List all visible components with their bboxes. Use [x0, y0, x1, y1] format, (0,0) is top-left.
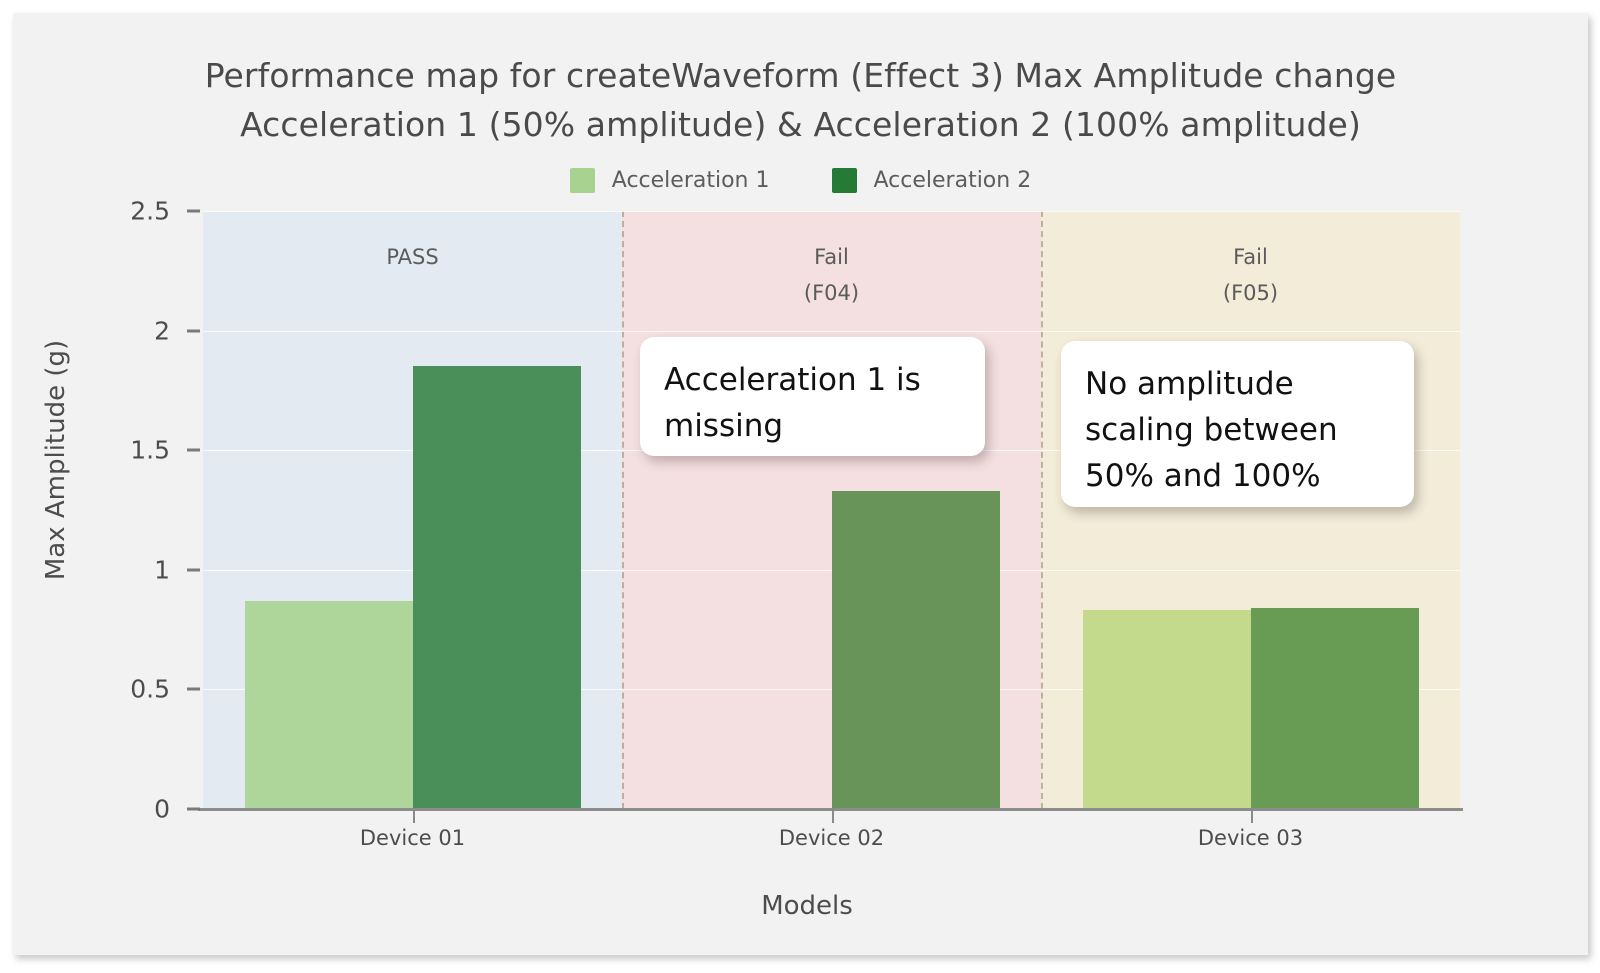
x-axis-tick-mark — [832, 809, 834, 823]
annotation-callout-2: No amplitudescaling between50% and 100% — [1061, 341, 1414, 507]
y-axis-label: Max Amplitude (g) — [41, 225, 71, 695]
chart-title: Performance map for createWaveform (Effe… — [13, 51, 1588, 149]
chart-legend: Acceleration 1 Acceleration 2 — [13, 168, 1588, 193]
annotation-callout-1: Acceleration 1 ismissing — [640, 337, 985, 456]
bar-device-01-series-1[interactable] — [245, 601, 413, 809]
x-axis-label: Models — [13, 891, 1600, 921]
legend-item-acceleration-1[interactable]: Acceleration 1 — [570, 168, 770, 193]
chart-title-line-1: Performance map for createWaveform (Effe… — [13, 51, 1588, 100]
legend-swatch-acceleration-2 — [832, 168, 857, 193]
band-divider — [1041, 211, 1043, 809]
y-axis-tick-label: 2 — [154, 316, 170, 345]
x-axis-tick-label-2: Device 02 — [779, 826, 884, 850]
band-divider — [622, 211, 624, 809]
y-axis-tick-mark — [187, 688, 200, 691]
y-axis-tick-mark — [187, 210, 200, 213]
chart-card: Performance map for createWaveform (Effe… — [13, 13, 1588, 955]
bar-device-03-series-1[interactable] — [1083, 610, 1251, 809]
band-label-line-1: Fail — [1041, 239, 1460, 275]
band-label-line-2: (F04) — [622, 275, 1041, 311]
legend-swatch-acceleration-1 — [570, 168, 595, 193]
y-axis-tick-label: 0.5 — [130, 675, 170, 704]
y-axis-tick-mark — [187, 568, 200, 571]
legend-label-acceleration-1: Acceleration 1 — [612, 168, 770, 193]
legend-label-acceleration-2: Acceleration 2 — [874, 168, 1032, 193]
y-axis-tick-mark — [187, 449, 200, 452]
annotation-text-line-2: scaling between — [1085, 407, 1390, 453]
bar-device-02-series-2[interactable] — [832, 491, 1000, 809]
bar-device-03-series-2[interactable] — [1251, 608, 1419, 809]
annotation-text-line-1: Acceleration 1 is — [664, 357, 961, 403]
x-axis-tick-label-1: Device 01 — [360, 826, 465, 850]
annotation-text-line-3: 50% and 100% — [1085, 453, 1390, 499]
band-label-line-1: PASS — [203, 239, 622, 275]
y-axis-tick-label: 1.5 — [130, 436, 170, 465]
x-axis-line — [198, 808, 1463, 811]
y-axis-tick-mark — [187, 329, 200, 332]
legend-item-acceleration-2[interactable]: Acceleration 2 — [832, 168, 1032, 193]
band-label: PASS — [203, 239, 622, 275]
bar-device-01-series-2[interactable] — [413, 366, 581, 809]
band-label-line-1: Fail — [622, 239, 1041, 275]
band-label-line-2: (F05) — [1041, 275, 1460, 311]
y-axis-tick-label: 1 — [154, 555, 170, 584]
y-axis-tick-label: 2.5 — [130, 197, 170, 226]
gridline — [203, 211, 1460, 212]
x-axis-tick-label-3: Device 03 — [1198, 826, 1303, 850]
y-axis-tick-label: 0 — [154, 795, 170, 824]
plot-area: PASSFail(F04)Fail(F05) — [203, 211, 1460, 809]
y-axis-tick-mark — [187, 808, 200, 811]
gridline — [203, 331, 1460, 332]
band-label: Fail(F05) — [1041, 239, 1460, 311]
band-label: Fail(F04) — [622, 239, 1041, 311]
annotation-text-line-2: missing — [664, 403, 961, 449]
x-axis-tick-mark — [413, 809, 415, 823]
x-axis-tick-mark — [1251, 809, 1253, 823]
annotation-text-line-1: No amplitude — [1085, 361, 1390, 407]
chart-title-line-2: Acceleration 1 (50% amplitude) & Acceler… — [13, 100, 1588, 149]
